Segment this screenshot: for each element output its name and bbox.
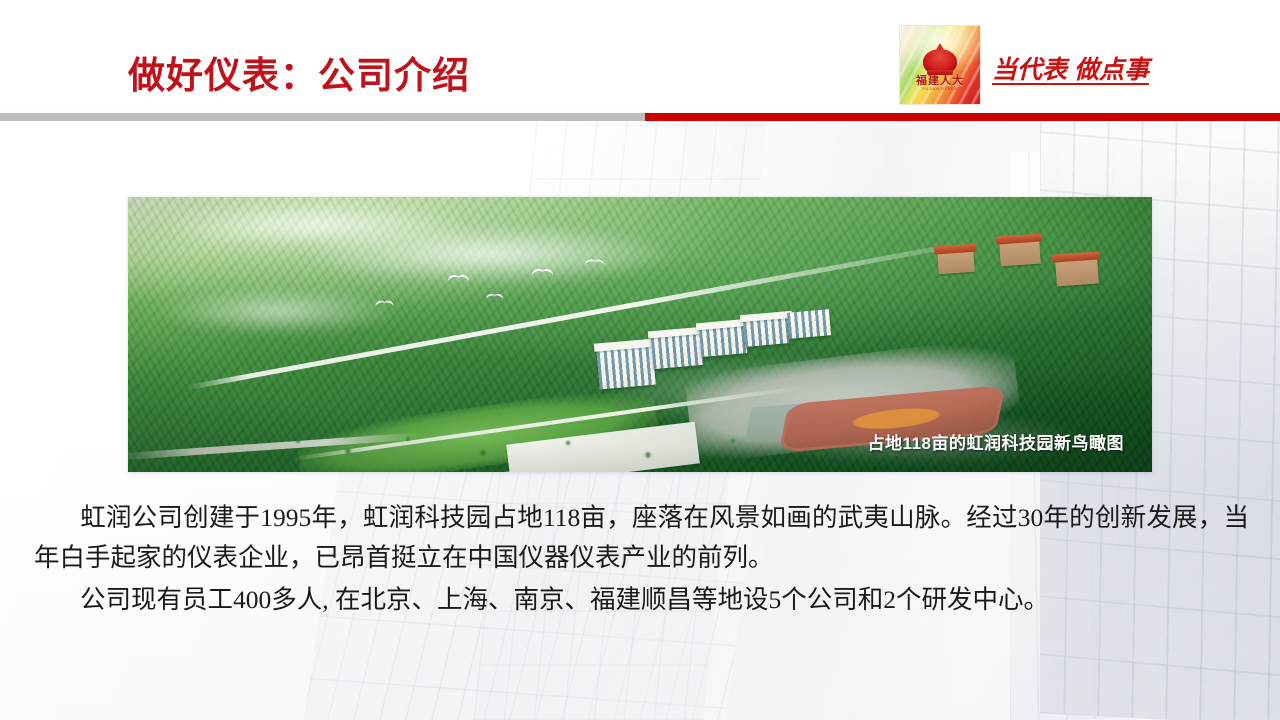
fujian-peoples-congress-logo-icon: 福建人大 FUJIAN RENDA: [899, 25, 981, 105]
campus-aerial-photo: 占地118亩的虹润科技园新鸟瞰图: [128, 197, 1152, 472]
national-emblem-icon: [923, 43, 957, 75]
header-divider-red-segment: [645, 113, 1280, 121]
paragraph: 虹润公司创建于1995年，虹润科技园占地118亩，座落在风景如画的武夷山脉。经过…: [34, 498, 1249, 578]
paragraph: 公司现有员工400多人, 在北京、上海、南京、福建顺昌等地设5个公司和2个研发中…: [34, 580, 1249, 620]
page-title: 做好仪表：公司介绍: [128, 45, 470, 99]
logo-subtext: FUJIAN RENDA: [900, 86, 980, 91]
header-divider-gray-segment: [0, 113, 645, 121]
body-copy: 虹润公司创建于1995年，虹润科技园占地118亩，座落在风景如画的武夷山脉。经过…: [34, 498, 1249, 620]
header-divider: [0, 113, 1280, 121]
paragraph-text: 虹润公司创建于1995年，虹润科技园占地118亩，座落在风景如画的武夷山脉。经过…: [34, 503, 1249, 572]
header-slogan: 当代表 做点事: [992, 50, 1149, 86]
paragraph-text: 公司现有员工400多人, 在北京、上海、南京、福建顺昌等地设5个公司和2个研发中…: [80, 585, 1049, 614]
photo-caption: 占地118亩的虹润科技园新鸟瞰图: [868, 429, 1124, 454]
slide-canvas: 做好仪表：公司介绍 福建人大 FUJIAN RENDA 当代表 做点事: [0, 0, 1280, 720]
slide-header: 做好仪表：公司介绍 福建人大 FUJIAN RENDA 当代表 做点事: [0, 0, 1280, 118]
